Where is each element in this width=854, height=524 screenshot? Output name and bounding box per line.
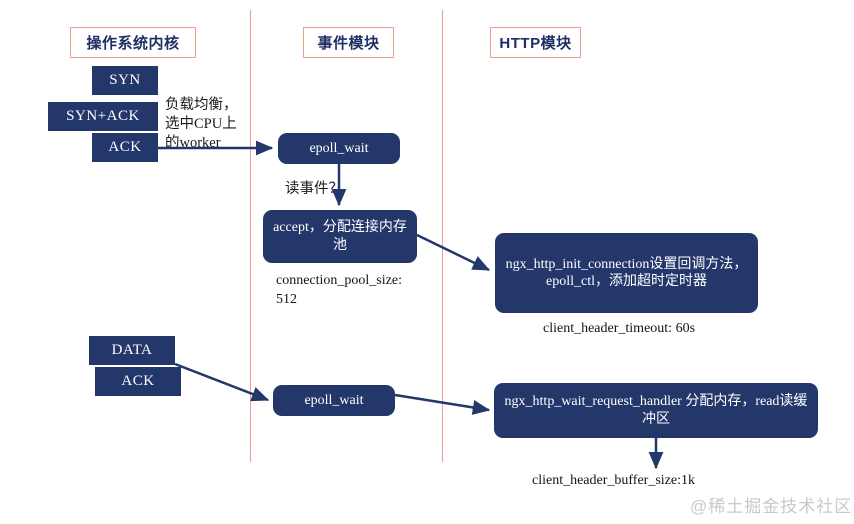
node-epoll-wait-bottom: epoll_wait bbox=[273, 385, 395, 416]
watermark: @稀土掘金技术社区 bbox=[690, 492, 852, 517]
packet-box-syn: SYN bbox=[92, 66, 158, 95]
annotation-client-header-buffer-size: client_header_buffer_size:1k bbox=[532, 472, 695, 491]
lane-header-http: HTTP模块 bbox=[490, 27, 581, 58]
annotation-load-balance: 负载均衡， 选中CPU上 的worker bbox=[165, 96, 285, 153]
node-wait-request-handler: ngx_http_wait_request_handler 分配内存，read读… bbox=[494, 383, 818, 438]
packet-box-data: DATA bbox=[89, 336, 175, 365]
packet-box-ack-2: ACK bbox=[95, 367, 181, 396]
lane-divider-kernel-event bbox=[250, 10, 251, 462]
node-http-init-connection: ngx_http_init_connection设置回调方法，epoll_ctl… bbox=[495, 233, 758, 313]
node-epoll-wait-top: epoll_wait bbox=[278, 133, 400, 164]
annotation-client-header-timeout: client_header_timeout: 60s bbox=[543, 320, 695, 339]
arrow-data-to-epoll-wait-bottom bbox=[175, 364, 268, 400]
lane-header-event: 事件模块 bbox=[303, 27, 394, 58]
lane-header-kernel: 操作系统内核 bbox=[70, 27, 196, 58]
diagram-canvas: 操作系统内核 事件模块 HTTP模块 SYN SYN+ACK ACK DATA … bbox=[0, 0, 854, 524]
arrow-accept-to-http-init-connection bbox=[417, 235, 489, 270]
packet-box-syn-ack: SYN+ACK bbox=[48, 102, 158, 131]
annotation-read-event: 读事件？ bbox=[285, 180, 343, 199]
lane-divider-event-http bbox=[442, 10, 443, 462]
packet-box-ack: ACK bbox=[92, 133, 158, 162]
annotation-connection-pool-size: connection_pool_size: 512 bbox=[276, 272, 456, 310]
node-accept: accept，分配连接内存池 bbox=[263, 210, 417, 263]
